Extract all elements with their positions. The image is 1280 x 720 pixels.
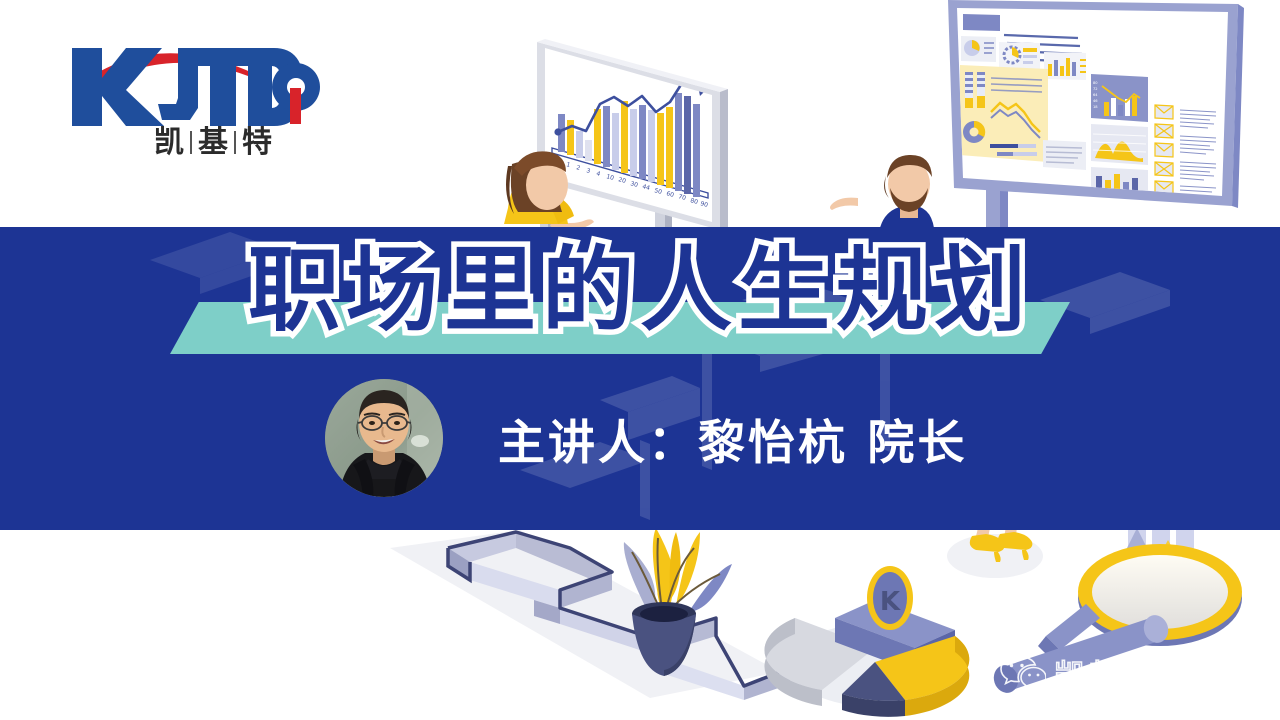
wechat-icon — [1000, 654, 1046, 694]
svg-text:基: 基 — [198, 125, 230, 158]
svg-text:特: 特 — [242, 125, 274, 158]
svg-text:46: 46 — [1093, 99, 1098, 103]
avatar — [325, 379, 443, 497]
svg-text:凯: 凯 — [154, 125, 186, 158]
watermark-text: 凯基特传感器 — [1054, 650, 1258, 698]
company-logo[interactable]: R 凯 基 特 — [58, 28, 328, 158]
slide-canvas: 0 1 2 3 4 10 20 30 44 50 60 70 80 90 — [0, 0, 1280, 720]
watermark: 凯基特传感器 — [1000, 650, 1258, 698]
svg-text:72: 72 — [1093, 87, 1098, 91]
speaker-row: 主讲人：黎怡杭 院长 — [325, 378, 1025, 498]
svg-text:K: K — [880, 587, 901, 617]
svg-text:80: 80 — [1093, 81, 1098, 85]
speaker-label: 主讲人：黎怡杭 院长 — [498, 404, 967, 473]
page-title: 职场里的人生规划 — [0, 243, 1280, 340]
svg-text:18: 18 — [1093, 105, 1098, 109]
svg-text:64: 64 — [1093, 93, 1098, 97]
